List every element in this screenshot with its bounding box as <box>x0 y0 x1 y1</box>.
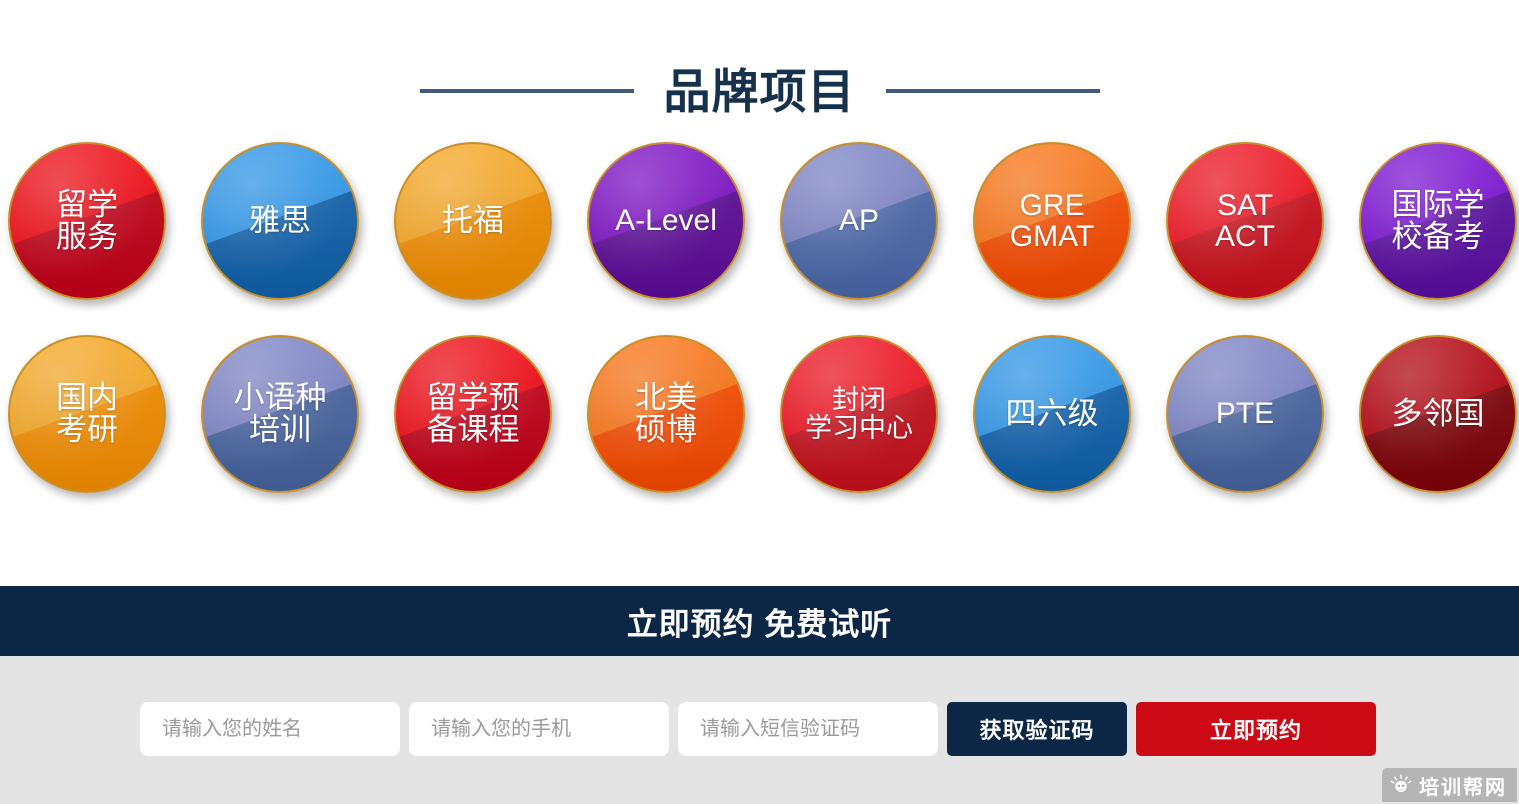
cta-banner-text: 立即预约 免费试听 <box>627 599 893 644</box>
program-circle-label: 封闭 学习中心 <box>799 386 919 442</box>
program-circle-silu-jiliuji[interactable]: 四六级 <box>973 335 1131 493</box>
watermark-text: 培训帮网 <box>1419 771 1507 800</box>
page-title-block: 品牌项目 <box>0 0 1519 120</box>
program-circle-duolinguo[interactable]: 多邻国 <box>1359 335 1517 493</box>
sun-face-icon <box>1390 774 1412 796</box>
program-circle-row: 留学 服务雅思托福A-LevelAPGRE GMATSAT ACT国际学 校备考 <box>0 120 1519 316</box>
program-circle-label: PTE <box>1210 398 1280 429</box>
program-circle-pte[interactable]: PTE <box>1166 335 1324 493</box>
get-verification-code-button[interactable]: 获取验证码 <box>947 702 1127 756</box>
program-circle-sat-act[interactable]: SAT ACT <box>1166 142 1324 300</box>
name-input[interactable] <box>140 702 400 756</box>
program-circle-label: AP <box>833 205 885 236</box>
program-circle-label: 留学预 备课程 <box>421 382 526 446</box>
phone-input[interactable] <box>409 702 669 756</box>
program-circle-label: 国际学 校备考 <box>1386 189 1491 253</box>
booking-form: 获取验证码 立即预约 <box>140 702 1376 756</box>
program-circle-guonei-kaoyan[interactable]: 国内 考研 <box>8 335 166 493</box>
site-watermark: 培训帮网 <box>1382 768 1517 802</box>
program-circle-label: 托福 <box>436 205 510 237</box>
heading-rule-left <box>420 89 634 93</box>
program-circle-liuxue-fuwu[interactable]: 留学 服务 <box>8 142 166 300</box>
program-circle-grid: 留学 服务雅思托福A-LevelAPGRE GMATSAT ACT国际学 校备考… <box>0 120 1519 520</box>
program-circle-label: 北美 硕博 <box>629 382 703 446</box>
program-circle-label: 国内 考研 <box>50 382 124 446</box>
cta-banner: 立即预约 免费试听 <box>0 586 1519 656</box>
program-circle-label: 雅思 <box>243 205 317 237</box>
program-circle-row: 国内 考研小语种 培训留学预 备课程北美 硕博封闭 学习中心四六级PTE多邻国 <box>0 316 1519 512</box>
program-circle-yasi[interactable]: 雅思 <box>201 142 359 300</box>
program-circle-xiaoyuzhong-peixun[interactable]: 小语种 培训 <box>201 335 359 493</box>
program-circle-ap[interactable]: AP <box>780 142 938 300</box>
program-circle-guoji-xuexiao-beikao[interactable]: 国际学 校备考 <box>1359 142 1517 300</box>
program-circle-liuxue-yubei-kecheng[interactable]: 留学预 备课程 <box>394 335 552 493</box>
page-title: 品牌项目 <box>664 68 856 115</box>
heading-rule-right <box>886 89 1100 93</box>
program-circle-label: 留学 服务 <box>50 189 124 253</box>
submit-booking-button[interactable]: 立即预约 <box>1136 702 1376 756</box>
program-circle-label: A-Level <box>609 205 723 236</box>
program-circle-label: GRE GMAT <box>1004 190 1100 252</box>
program-circle-label: SAT ACT <box>1209 190 1281 252</box>
booking-form-strip: 获取验证码 立即预约 <box>0 656 1519 804</box>
program-circle-label: 四六级 <box>1000 398 1105 430</box>
program-circle-label: 小语种 培训 <box>228 382 333 446</box>
program-circle-tuofu[interactable]: 托福 <box>394 142 552 300</box>
program-circle-beimei-shuobo[interactable]: 北美 硕博 <box>587 335 745 493</box>
program-circle-label: 多邻国 <box>1386 398 1491 430</box>
program-circle-a-level[interactable]: A-Level <box>587 142 745 300</box>
program-circle-fengbi-xuexi-zhongxin[interactable]: 封闭 学习中心 <box>780 335 938 493</box>
program-circle-gre-gmat[interactable]: GRE GMAT <box>973 142 1131 300</box>
sms-code-input[interactable] <box>678 702 938 756</box>
